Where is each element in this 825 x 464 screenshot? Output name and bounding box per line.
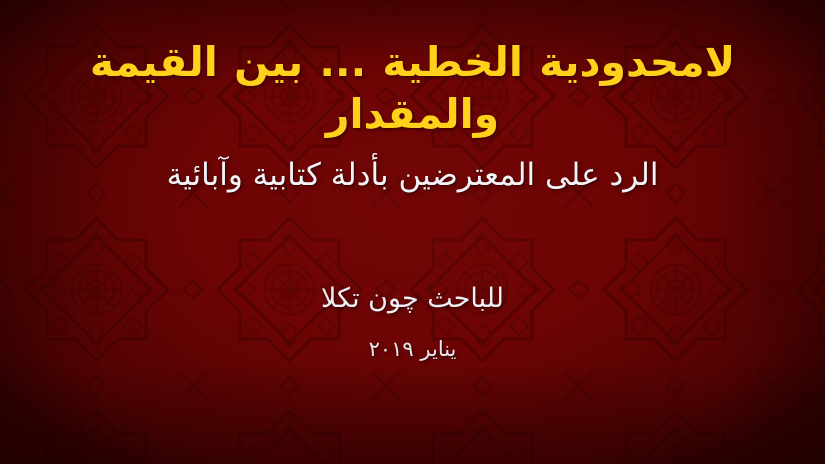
page-subtitle: الرد على المعترضين بأدلة كتابية وآبائية	[33, 155, 793, 195]
date-label: يناير ٢٠١٩	[321, 336, 504, 363]
page-title: لامحدودية الخطية ... بين القيمة والمقدار	[33, 36, 793, 141]
title-slide: لامحدودية الخطية ... بين القيمة والمقدار…	[0, 0, 825, 464]
slide-content: لامحدودية الخطية ... بين القيمة والمقدار…	[0, 0, 825, 464]
author-label: للباحث چون تكلا	[321, 281, 504, 316]
title-block: لامحدودية الخطية ... بين القيمة والمقدار…	[33, 36, 793, 195]
byline-block: للباحث چون تكلا يناير ٢٠١٩	[321, 281, 504, 363]
